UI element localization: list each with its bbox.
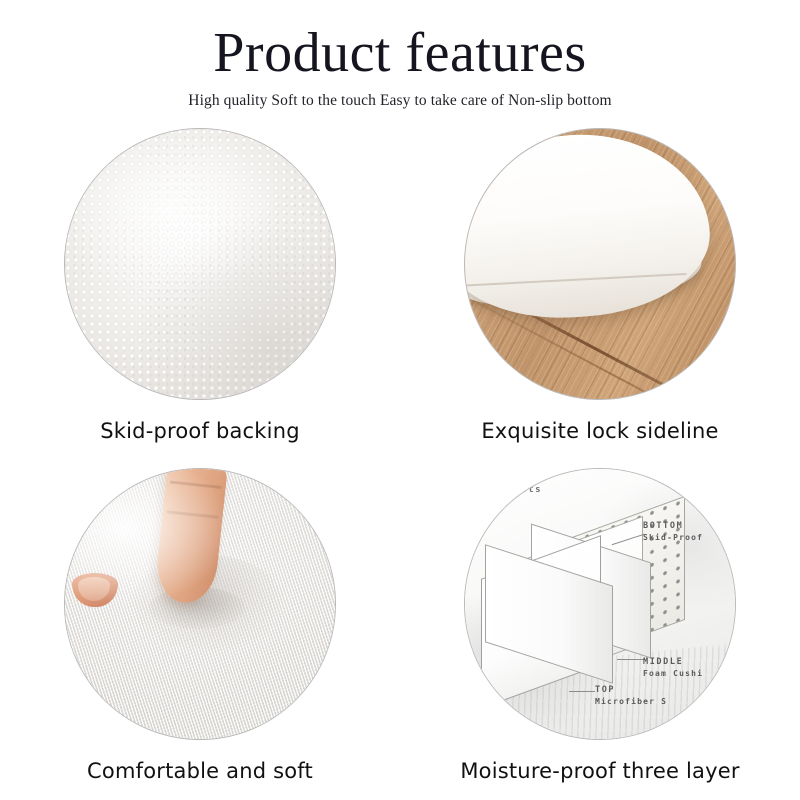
feature-image-exquisite-lock-sideline [464, 128, 736, 400]
layer-label-middle-title: MIDDLE [643, 657, 703, 667]
page-subtitle: High quality Soft to the touch Easy to t… [0, 90, 800, 112]
layer-label-middle: MIDDLE Foam Cushi [643, 657, 703, 678]
feature-item-skid-proof-backing: Skid-proof backing [0, 128, 400, 468]
layer-label-top: TOP Microfiber S [595, 685, 667, 706]
leader-line-top [569, 691, 595, 692]
feature-caption: Comfortable and soft [87, 758, 313, 784]
layer-label-bottom-title: BOTTOM [643, 521, 703, 531]
feature-caption: Moisture-proof three layer [460, 758, 739, 784]
feature-item-moisture-proof-three-layer: roducts BOTTOM Skid-Proof MIDDLE Foam Cu… [400, 468, 800, 800]
layer-label-top-sub: Microfiber S [595, 697, 667, 706]
feature-item-exquisite-lock-sideline: Exquisite lock sideline [400, 128, 800, 468]
mesh-highlight-overlay [65, 129, 335, 399]
leader-line-middle [617, 659, 645, 660]
feature-grid: Skid-proof backing Exquisite lock sideli… [0, 128, 800, 800]
feature-caption: Exquisite lock sideline [481, 418, 718, 444]
diagram-watermark: roducts [493, 485, 542, 495]
layer-label-bottom-sub: Skid-Proof [643, 533, 703, 542]
page-title: Product features [0, 22, 800, 84]
layer-label-middle-sub: Foam Cushi [643, 669, 703, 678]
page-header: Product features High quality Soft to th… [0, 0, 800, 112]
feature-caption: Skid-proof backing [100, 418, 299, 444]
plush-highlight-overlay [65, 469, 335, 739]
feature-item-comfortable-and-soft: Comfortable and soft [0, 468, 400, 800]
feature-image-moisture-proof-three-layer: roducts BOTTOM Skid-Proof MIDDLE Foam Cu… [464, 468, 736, 740]
feature-image-skid-proof-backing [64, 128, 336, 400]
layer-label-top-title: TOP [595, 685, 667, 695]
layer-label-bottom: BOTTOM Skid-Proof [643, 521, 703, 542]
feature-image-comfortable-and-soft [64, 468, 336, 740]
product-features-page: Product features High quality Soft to th… [0, 0, 800, 800]
